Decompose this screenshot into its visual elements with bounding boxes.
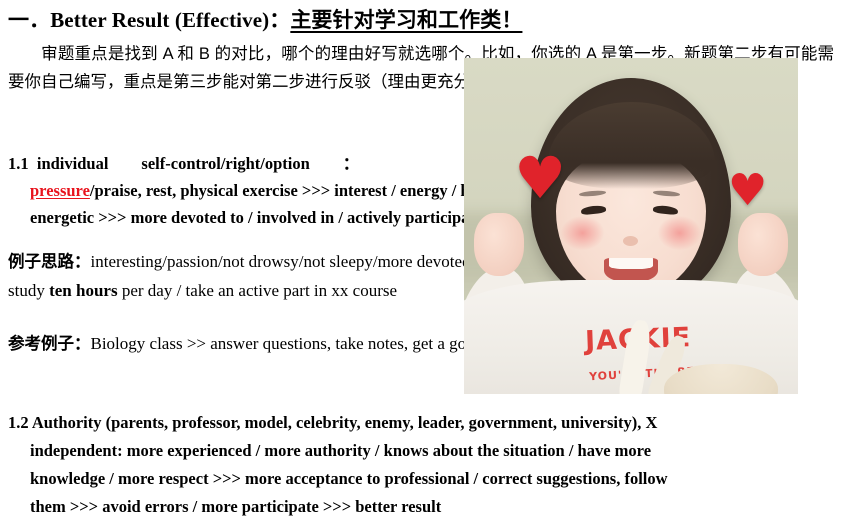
- photo-nose: [623, 236, 638, 246]
- title-english: Better Result (Effective): [50, 8, 269, 32]
- photo-cheek-right: [658, 216, 701, 250]
- section-1-1-term-b: self-control/right/option: [141, 154, 309, 173]
- example-idea-line-3: course: [353, 281, 397, 300]
- example-idea-line-2c: per day / take an active part in xx: [118, 281, 349, 300]
- section-1-2-line-1-text: Authority (parents, professor, model, ce…: [32, 413, 658, 432]
- section-1-2-number: 1.2: [8, 413, 29, 432]
- example-idea-label: 例子思路：: [8, 253, 91, 271]
- photo-hand-left: [474, 213, 524, 277]
- document-page: 一．Better Result (Effective)：主要针对学习和工作类！ …: [0, 0, 846, 524]
- section-1-1-number: 1.1: [8, 154, 29, 173]
- example-idea-bold-hours: ten hours: [49, 281, 117, 300]
- reference-example-label: 参考例子：: [8, 335, 91, 353]
- section-1-2-line-2: independent: more experienced / more aut…: [8, 437, 834, 465]
- heart-icon-right: ♥: [728, 169, 767, 213]
- section-1-2: 1.2 Authority (parents, professor, model…: [8, 409, 834, 521]
- section-1-2-line-3: knowledge / more respect >>> more accept…: [8, 465, 834, 493]
- section-1-2-line-1: 1.2 Authority (parents, professor, model…: [8, 409, 834, 437]
- section-1-1-colon: ：: [343, 154, 360, 173]
- title-colon: ：: [269, 8, 290, 32]
- keyword-pressure: pressure: [30, 181, 90, 200]
- photo-cheek-left: [561, 216, 604, 250]
- floating-photo-overlay: JACKIE YOU'RE THE BEST ♥ ♥: [464, 58, 798, 394]
- title-number: 一．: [8, 8, 50, 32]
- section-1-2-line-4: them >>> avoid errors / more participate…: [8, 493, 834, 521]
- example-idea-line-2b: study: [8, 281, 49, 300]
- page-title: 一．Better Result (Effective)：主要针对学习和工作类！: [8, 4, 838, 34]
- photo-teeth: [609, 258, 654, 269]
- heart-icon-left: ♥: [514, 149, 566, 207]
- section-1-1-term-a: individual: [37, 154, 109, 173]
- title-chinese: 主要针对学习和工作类！: [290, 8, 522, 32]
- photo-hand-right: [738, 213, 788, 277]
